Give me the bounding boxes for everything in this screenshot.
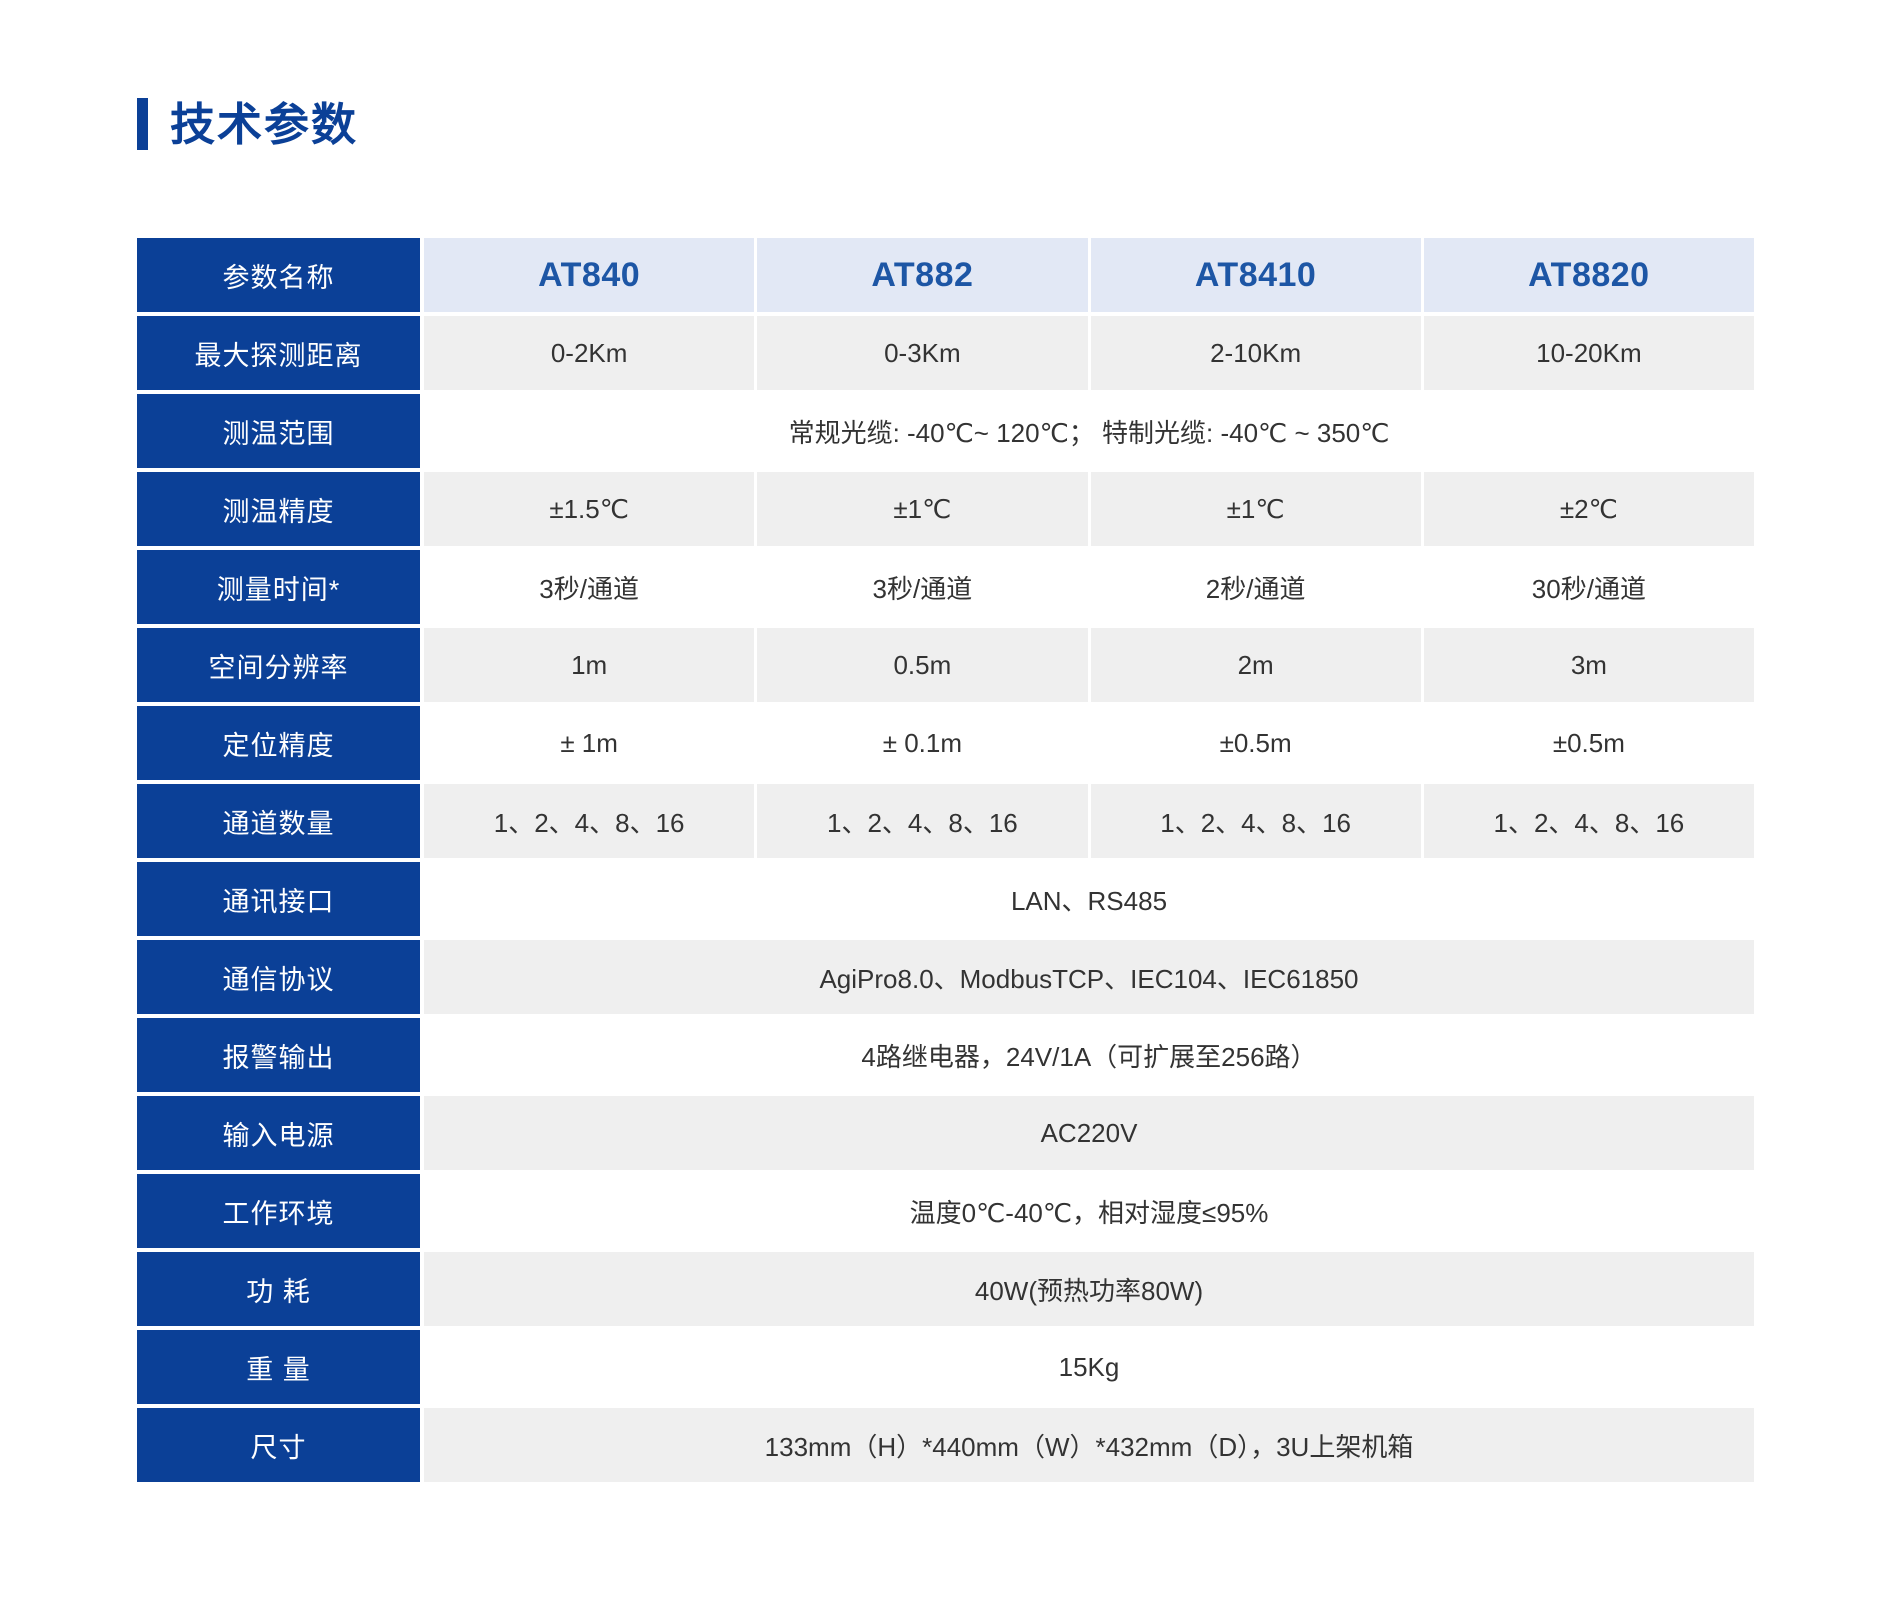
row-value-cell: 1m — [424, 628, 757, 702]
table-row: 工作环境温度0℃-40℃，相对湿度≤95% — [137, 1174, 1754, 1248]
row-value-cell: ±0.5m — [1424, 706, 1754, 780]
table-row: 功 耗40W(预热功率80W) — [137, 1252, 1754, 1326]
row-value-cell: 2秒/通道 — [1091, 550, 1424, 624]
row-label-cell: 重 量 — [137, 1330, 420, 1404]
row-value-cell: 1、2、4、8、16 — [1424, 784, 1754, 858]
row-label-cell: 工作环境 — [137, 1174, 420, 1248]
table-row: 最大探测距离0-2Km0-3Km2-10Km10-20Km — [137, 316, 1754, 390]
row-merged-value: 133mm（H）*440mm（W）*432mm（D），3U上架机箱 — [424, 1408, 1754, 1482]
row-label-cell: 测量时间* — [137, 550, 420, 624]
row-value-cell: ± 1m — [424, 706, 757, 780]
spec-sheet-page: 技术参数 参数名称AT840AT882AT8410AT8820最大探测距离0-2… — [0, 0, 1891, 1605]
row-label-cell: 功 耗 — [137, 1252, 420, 1326]
row-value-cell: 3秒/通道 — [757, 550, 1090, 624]
row-label-cell: 输入电源 — [137, 1096, 420, 1170]
table-row: 测温精度±1.5℃±1℃±1℃±2℃ — [137, 472, 1754, 546]
row-merged-value: 温度0℃-40℃，相对湿度≤95% — [424, 1174, 1754, 1248]
header-label-cell: 参数名称 — [137, 238, 420, 312]
row-label-cell: 报警输出 — [137, 1018, 420, 1092]
row-value-cell: ±1.5℃ — [424, 472, 757, 546]
row-value-cell: 2m — [1091, 628, 1424, 702]
table-row: 测温范围常规光缆: -40℃~ 120℃； 特制光缆: -40℃ ~ 350℃ — [137, 394, 1754, 468]
row-merged-value: 15Kg — [424, 1330, 1754, 1404]
row-value-cell: 30秒/通道 — [1424, 550, 1754, 624]
row-label-cell: 尺寸 — [137, 1408, 420, 1482]
title-accent-bar — [137, 98, 148, 150]
row-label-cell: 定位精度 — [137, 706, 420, 780]
row-value-cell: 3m — [1424, 628, 1754, 702]
row-label-cell: 通讯接口 — [137, 862, 420, 936]
page-title: 技术参数 — [170, 102, 358, 147]
column-header-model: AT8410 — [1091, 238, 1424, 312]
row-label-cell: 通信协议 — [137, 940, 420, 1014]
specifications-table: 参数名称AT840AT882AT8410AT8820最大探测距离0-2Km0-3… — [137, 238, 1754, 1482]
row-merged-value: AgiPro8.0、ModbusTCP、IEC104、IEC61850 — [424, 940, 1754, 1014]
page-title-block: 技术参数 — [137, 98, 358, 150]
column-header-model: AT840 — [424, 238, 757, 312]
row-value-cell: 0.5m — [757, 628, 1090, 702]
row-value-cell: ±1℃ — [757, 472, 1090, 546]
column-header-model: AT882 — [757, 238, 1090, 312]
row-value-cell: ±1℃ — [1091, 472, 1424, 546]
table-row: 通信协议AgiPro8.0、ModbusTCP、IEC104、IEC61850 — [137, 940, 1754, 1014]
row-value-cell: 1、2、4、8、16 — [424, 784, 757, 858]
row-value-cell: 3秒/通道 — [424, 550, 757, 624]
row-value-cell: ±0.5m — [1091, 706, 1424, 780]
row-merged-value: 40W(预热功率80W) — [424, 1252, 1754, 1326]
row-value-cell: 1、2、4、8、16 — [757, 784, 1090, 858]
row-merged-value: 4路继电器，24V/1A（可扩展至256路） — [424, 1018, 1754, 1092]
row-value-cell: ±2℃ — [1424, 472, 1754, 546]
row-merged-value: 常规光缆: -40℃~ 120℃； 特制光缆: -40℃ ~ 350℃ — [424, 394, 1754, 468]
table-row: 空间分辨率1m0.5m2m3m — [137, 628, 1754, 702]
table-row: 定位精度± 1m± 0.1m±0.5m±0.5m — [137, 706, 1754, 780]
table-row: 报警输出4路继电器，24V/1A（可扩展至256路） — [137, 1018, 1754, 1092]
row-value-cell: 2-10Km — [1091, 316, 1424, 390]
row-label-cell: 通道数量 — [137, 784, 420, 858]
column-header-model: AT8820 — [1424, 238, 1754, 312]
row-value-cell: 1、2、4、8、16 — [1091, 784, 1424, 858]
row-value-cell: 10-20Km — [1424, 316, 1754, 390]
table-row: 测量时间*3秒/通道3秒/通道2秒/通道30秒/通道 — [137, 550, 1754, 624]
table-row: 输入电源AC220V — [137, 1096, 1754, 1170]
table-row: 尺寸133mm（H）*440mm（W）*432mm（D），3U上架机箱 — [137, 1408, 1754, 1482]
row-label-cell: 测温精度 — [137, 472, 420, 546]
table-row: 重 量15Kg — [137, 1330, 1754, 1404]
table-row: 通道数量1、2、4、8、161、2、4、8、161、2、4、8、161、2、4、… — [137, 784, 1754, 858]
row-label-cell: 空间分辨率 — [137, 628, 420, 702]
row-label-cell: 测温范围 — [137, 394, 420, 468]
row-merged-value: LAN、RS485 — [424, 862, 1754, 936]
row-value-cell: ± 0.1m — [757, 706, 1090, 780]
table-row: 通讯接口LAN、RS485 — [137, 862, 1754, 936]
row-label-cell: 最大探测距离 — [137, 316, 420, 390]
table-header-row: 参数名称AT840AT882AT8410AT8820 — [137, 238, 1754, 312]
row-value-cell: 0-3Km — [757, 316, 1090, 390]
row-value-cell: 0-2Km — [424, 316, 757, 390]
row-merged-value: AC220V — [424, 1096, 1754, 1170]
